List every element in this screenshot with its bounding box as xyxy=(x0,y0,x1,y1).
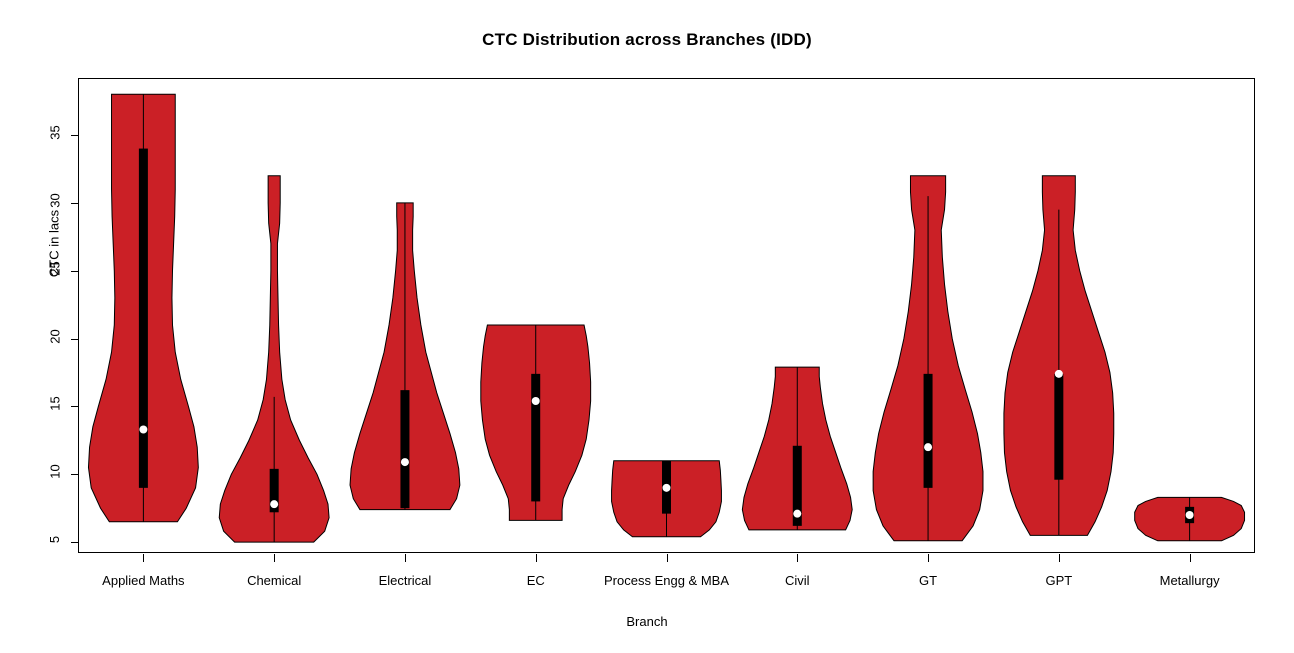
y-tick-label: 35 xyxy=(44,125,66,140)
plot-area xyxy=(78,78,1255,553)
x-tick xyxy=(1059,554,1060,562)
x-tick xyxy=(405,554,406,562)
x-tick-label-electrical: Electrical xyxy=(379,573,432,588)
x-tick xyxy=(667,554,668,562)
y-tick xyxy=(71,474,79,475)
y-tick-label: 20 xyxy=(44,329,66,344)
y-tick xyxy=(71,406,79,407)
x-tick xyxy=(536,554,537,562)
y-tick-label: 15 xyxy=(44,396,66,411)
y-tick xyxy=(71,542,79,543)
y-tick-label: 5 xyxy=(44,532,66,547)
x-tick xyxy=(274,554,275,562)
x-tick xyxy=(1190,554,1191,562)
x-tick-label-metallurgy: Metallurgy xyxy=(1160,573,1220,588)
x-tick xyxy=(797,554,798,562)
x-tick xyxy=(143,554,144,562)
x-tick-label-gpt: GPT xyxy=(1045,573,1072,588)
x-tick xyxy=(928,554,929,562)
x-tick-label-ec: EC xyxy=(527,573,545,588)
x-tick-label-gt: GT xyxy=(919,573,937,588)
x-axis-title: Branch xyxy=(0,614,1294,629)
page-title: CTC Distribution across Branches (IDD) xyxy=(0,30,1294,50)
y-tick xyxy=(71,203,79,204)
y-axis-title: CTC in lacs xyxy=(47,184,62,304)
y-tick xyxy=(71,339,79,340)
x-tick-label-applied-maths: Applied Maths xyxy=(102,573,184,588)
x-tick-label-chemical: Chemical xyxy=(247,573,301,588)
x-tick-label-civil: Civil xyxy=(785,573,810,588)
x-tick-label-process-engg-mba: Process Engg & MBA xyxy=(604,573,729,588)
y-tick xyxy=(71,271,79,272)
y-tick-label: 10 xyxy=(44,464,66,479)
y-tick xyxy=(71,135,79,136)
violin-chart: CTC Distribution across Branches (IDD) 5… xyxy=(0,0,1294,653)
